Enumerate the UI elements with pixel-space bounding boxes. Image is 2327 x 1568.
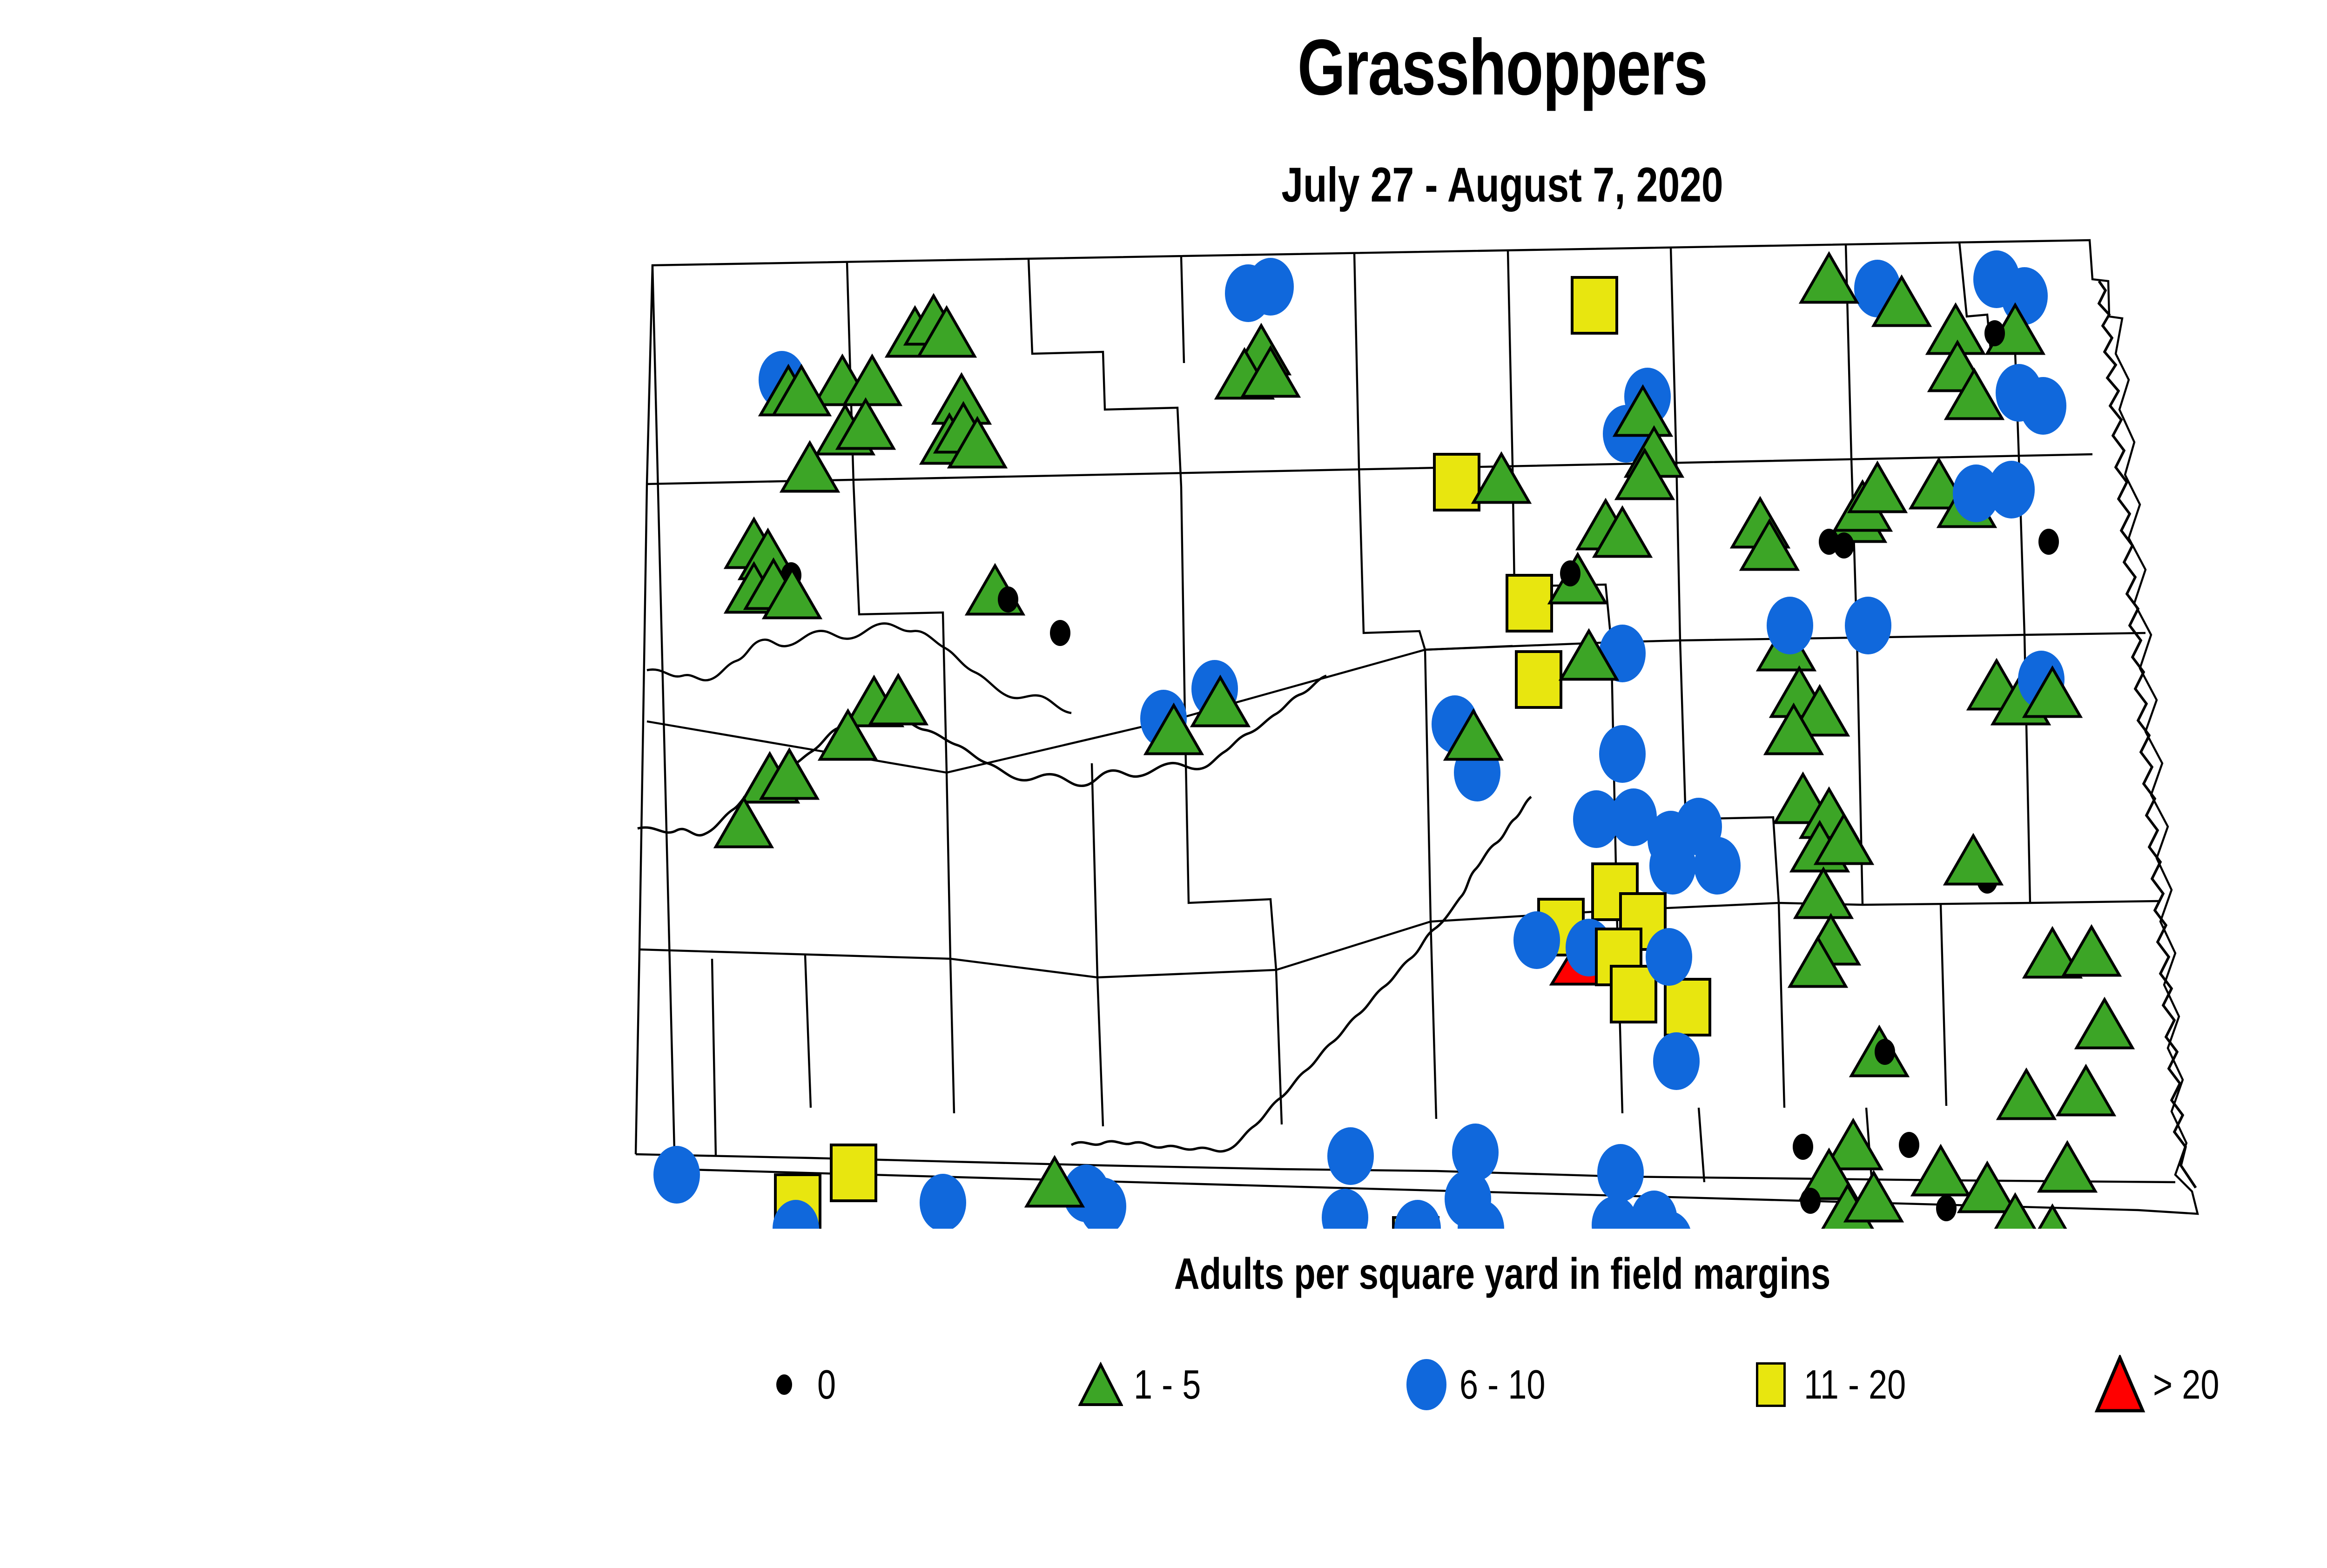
map-marker-cir: [1327, 1127, 1374, 1185]
map-marker-sq: [1507, 575, 1552, 631]
legend-item-4[interactable]: > 20: [2090, 1340, 2234, 1429]
legend-label-2: 6 - 10: [1459, 1364, 1546, 1405]
legend-label-3: 11 - 20: [1804, 1364, 1906, 1405]
map-marker-cir: [1247, 258, 1294, 316]
map-marker-sq: [831, 1145, 876, 1201]
map-marker-dot: [1984, 320, 2005, 346]
map-marker-sq: [1611, 966, 1656, 1022]
map-marker-cir: [1394, 1200, 1441, 1229]
legend-item-1[interactable]: 1 - 5: [1070, 1340, 1216, 1429]
map-marker-dot: [1793, 1134, 1813, 1160]
yellow-square-icon: [1741, 1354, 1801, 1415]
map-marker-sq: [1665, 979, 1710, 1035]
green-triangle-icon: [1070, 1354, 1131, 1415]
legend-caption: Adults per square yard in field margins: [301, 1252, 2327, 1296]
map-marker-cir: [1767, 597, 1813, 654]
map-marker-dot: [1834, 532, 1854, 559]
map-marker-dot: [1050, 620, 1070, 646]
map-marker-sq: [1572, 277, 1617, 333]
map-marker-cir: [1322, 1189, 1368, 1229]
black-dot-icon: [754, 1354, 814, 1415]
legend-label-1: 1 - 5: [1134, 1364, 1201, 1405]
map-marker-sq: [1516, 652, 1561, 707]
legend-label-4: > 20: [2153, 1364, 2219, 1405]
blue-circle-icon: [1396, 1354, 1457, 1415]
legend-label-0: 0: [817, 1364, 836, 1405]
map-marker-dot: [1875, 1039, 1895, 1065]
red-triangle-icon: [2090, 1354, 2150, 1415]
map-marker-cir: [1599, 725, 1646, 783]
legend-item-3[interactable]: 11 - 20: [1741, 1340, 1928, 1429]
map-marker-cir: [1597, 1144, 1644, 1202]
map-marker-dot: [1899, 1132, 1919, 1158]
legend-item-2[interactable]: 6 - 10: [1396, 1340, 1564, 1429]
map-marker-dot: [1800, 1188, 1821, 1214]
legend-item-0[interactable]: 0: [754, 1340, 840, 1429]
map-marker-cir: [1649, 837, 1696, 895]
map-marker-cir: [653, 1146, 700, 1204]
map-marker-cir: [1513, 911, 1560, 969]
map-marker-dot: [1560, 560, 1580, 586]
map-marker-cir: [1845, 597, 1891, 654]
page-title: Grasshoppers: [330, 28, 2327, 107]
map-svg: [619, 214, 2304, 1229]
map-figure: Grasshoppers July 27 - August 7, 2020: [0, 0, 2327, 1568]
legend: 0 1 - 5 6 - 10 11 - 20 > 20: [754, 1340, 2290, 1429]
north-dakota-map[interactable]: [619, 214, 2304, 1229]
map-marker-dot: [2038, 529, 2059, 555]
map-marker-dot: [998, 586, 1018, 612]
map-marker-dot: [1936, 1195, 1957, 1221]
map-marker-cir: [1988, 461, 2035, 518]
map-marker-cir: [920, 1174, 966, 1229]
page-subtitle: July 27 - August 7, 2020: [301, 161, 2327, 209]
map-marker-cir: [1653, 1032, 1700, 1090]
map-marker-cir: [1694, 837, 1741, 895]
map-marker-cir: [2020, 377, 2066, 435]
map-marker-cir: [1646, 928, 1692, 986]
